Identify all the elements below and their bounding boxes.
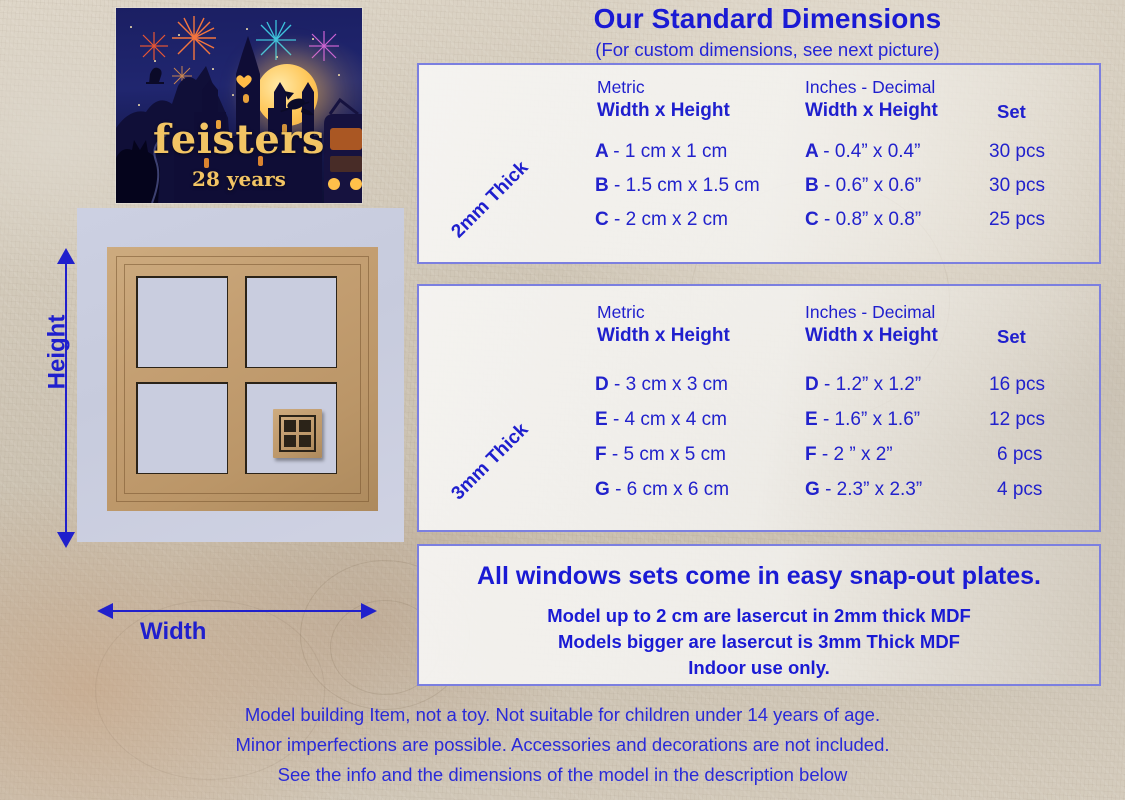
page-title: Our Standard Dimensions (410, 3, 1125, 35)
footer-line-2: Minor imperfections are possible. Access… (0, 730, 1125, 760)
row-letter: C (595, 209, 614, 230)
table-row: B - 1.5 cm x 1.5 cm (595, 175, 760, 197)
row-set: 16 pcs (989, 374, 1045, 396)
row-letter: D (805, 374, 824, 395)
notice-line-1: Model up to 2 cm are lasercut in 2mm thi… (419, 603, 1099, 629)
table-row: F - 5 cm x 5 cm (595, 444, 726, 466)
metric-header-small: Metric (597, 302, 730, 323)
row-letter: B (595, 175, 614, 196)
thickness-label-3mm: 3mm Thick (447, 419, 533, 505)
metric-column-header: Metric Width x Height (597, 77, 730, 122)
width-label: Width (140, 618, 206, 646)
height-arrow-head-bottom (57, 532, 75, 548)
row-letter: D (595, 374, 614, 395)
table-row: C - 0.8” x 0.8” (805, 209, 921, 231)
brand-logo-card: feisters 28 years (116, 8, 362, 203)
dimensions-table-3mm: 3mm Thick Metric Width x Height Inches -… (417, 284, 1101, 532)
row-metric: - 3 cm x 3 cm (614, 374, 728, 395)
set-column-header: Set (997, 326, 1026, 348)
row-set: 30 pcs (989, 141, 1045, 163)
row-metric: - 1 cm x 1 cm (613, 141, 727, 162)
table-row: D - 3 cm x 3 cm (595, 374, 728, 396)
row-metric: - 5 cm x 5 cm (612, 444, 726, 465)
brand-tagline: 28 years (116, 167, 362, 191)
table-row: A - 0.4” x 0.4” (805, 141, 920, 163)
inches-header-big: Width x Height (805, 100, 938, 122)
row-inches: - 1.2” x 1.2” (824, 374, 921, 395)
row-set: 30 pcs (989, 175, 1045, 197)
brand-name: feisters (116, 116, 362, 163)
row-letter: A (805, 141, 823, 162)
table-row: C - 2 cm x 2 cm (595, 209, 728, 231)
footer-line-1: Model building Item, not a toy. Not suit… (0, 700, 1125, 730)
footer-disclaimer: Model building Item, not a toy. Not suit… (0, 700, 1125, 790)
metric-header-big: Width x Height (597, 100, 730, 122)
row-metric: - 6 cm x 6 cm (615, 479, 729, 500)
row-letter: F (805, 444, 822, 465)
inches-column-header: Inches - Decimal Width x Height (805, 302, 938, 347)
row-letter: B (805, 175, 824, 196)
row-inches: - 0.8” x 0.8” (824, 209, 921, 230)
notice-headline: All windows sets come in easy snap-out p… (419, 562, 1099, 591)
row-letter: A (595, 141, 613, 162)
table-row: E - 4 cm x 4 cm (595, 409, 727, 431)
thickness-label-2mm: 2mm Thick (447, 157, 533, 243)
table-row: A - 1 cm x 1 cm (595, 141, 727, 163)
page-subtitle: (For custom dimensions, see next picture… (410, 39, 1125, 61)
table-row: D - 1.2” x 1.2” (805, 374, 921, 396)
metric-column-header: Metric Width x Height (597, 302, 730, 347)
footer-line-3: See the info and the dimensions of the m… (0, 760, 1125, 790)
row-set: 25 pcs (989, 209, 1045, 231)
snap-out-notice-panel: All windows sets come in easy snap-out p… (417, 544, 1101, 686)
inches-column-header: Inches - Decimal Width x Height (805, 77, 938, 122)
height-arrow-line (65, 262, 67, 534)
row-set: 12 pcs (989, 409, 1045, 431)
table-row: B - 0.6” x 0.6” (805, 175, 921, 197)
table-row: G - 2.3” x 2.3” (805, 479, 922, 501)
table-row: G - 6 cm x 6 cm (595, 479, 729, 501)
set-column-header: Set (997, 101, 1026, 123)
infographic-canvas: feisters 28 years Height Width Our (0, 0, 1125, 800)
mdf-window-frame-photo (77, 208, 404, 542)
height-label: Height (43, 315, 71, 390)
width-arrow-head-right (361, 603, 377, 619)
height-arrow-head-top (57, 248, 75, 264)
table-row: E - 1.6” x 1.6” (805, 409, 920, 431)
row-inches: - 2 ” x 2” (822, 444, 893, 465)
notice-line-3: Indoor use only. (419, 655, 1099, 681)
row-inches: - 0.6” x 0.6” (824, 175, 921, 196)
row-letter: E (595, 409, 613, 430)
row-metric: - 1.5 cm x 1.5 cm (614, 175, 760, 196)
row-inches: - 1.6” x 1.6” (823, 409, 920, 430)
metric-header-big: Width x Height (597, 325, 730, 347)
row-letter: F (595, 444, 612, 465)
row-set: 6 pcs (997, 444, 1042, 466)
dimensions-table-2mm: 2mm Thick Metric Width x Height Inches -… (417, 63, 1101, 264)
row-inches: - 0.4” x 0.4” (823, 141, 920, 162)
row-letter: E (805, 409, 823, 430)
row-letter: C (805, 209, 824, 230)
table-row: F - 2 ” x 2” (805, 444, 893, 466)
metric-header-small: Metric (597, 77, 730, 98)
row-letter: G (805, 479, 825, 500)
width-arrow-head-left (97, 603, 113, 619)
row-metric: - 4 cm x 4 cm (613, 409, 727, 430)
inches-header-big: Width x Height (805, 325, 938, 347)
row-metric: - 2 cm x 2 cm (614, 209, 728, 230)
width-arrow-line (111, 610, 363, 612)
row-inches: - 2.3” x 2.3” (825, 479, 922, 500)
row-set: 4 pcs (997, 479, 1042, 501)
row-letter: G (595, 479, 615, 500)
inches-header-small: Inches - Decimal (805, 302, 938, 323)
notice-line-2: Models bigger are lasercut is 3mm Thick … (419, 629, 1099, 655)
inches-header-small: Inches - Decimal (805, 77, 938, 98)
